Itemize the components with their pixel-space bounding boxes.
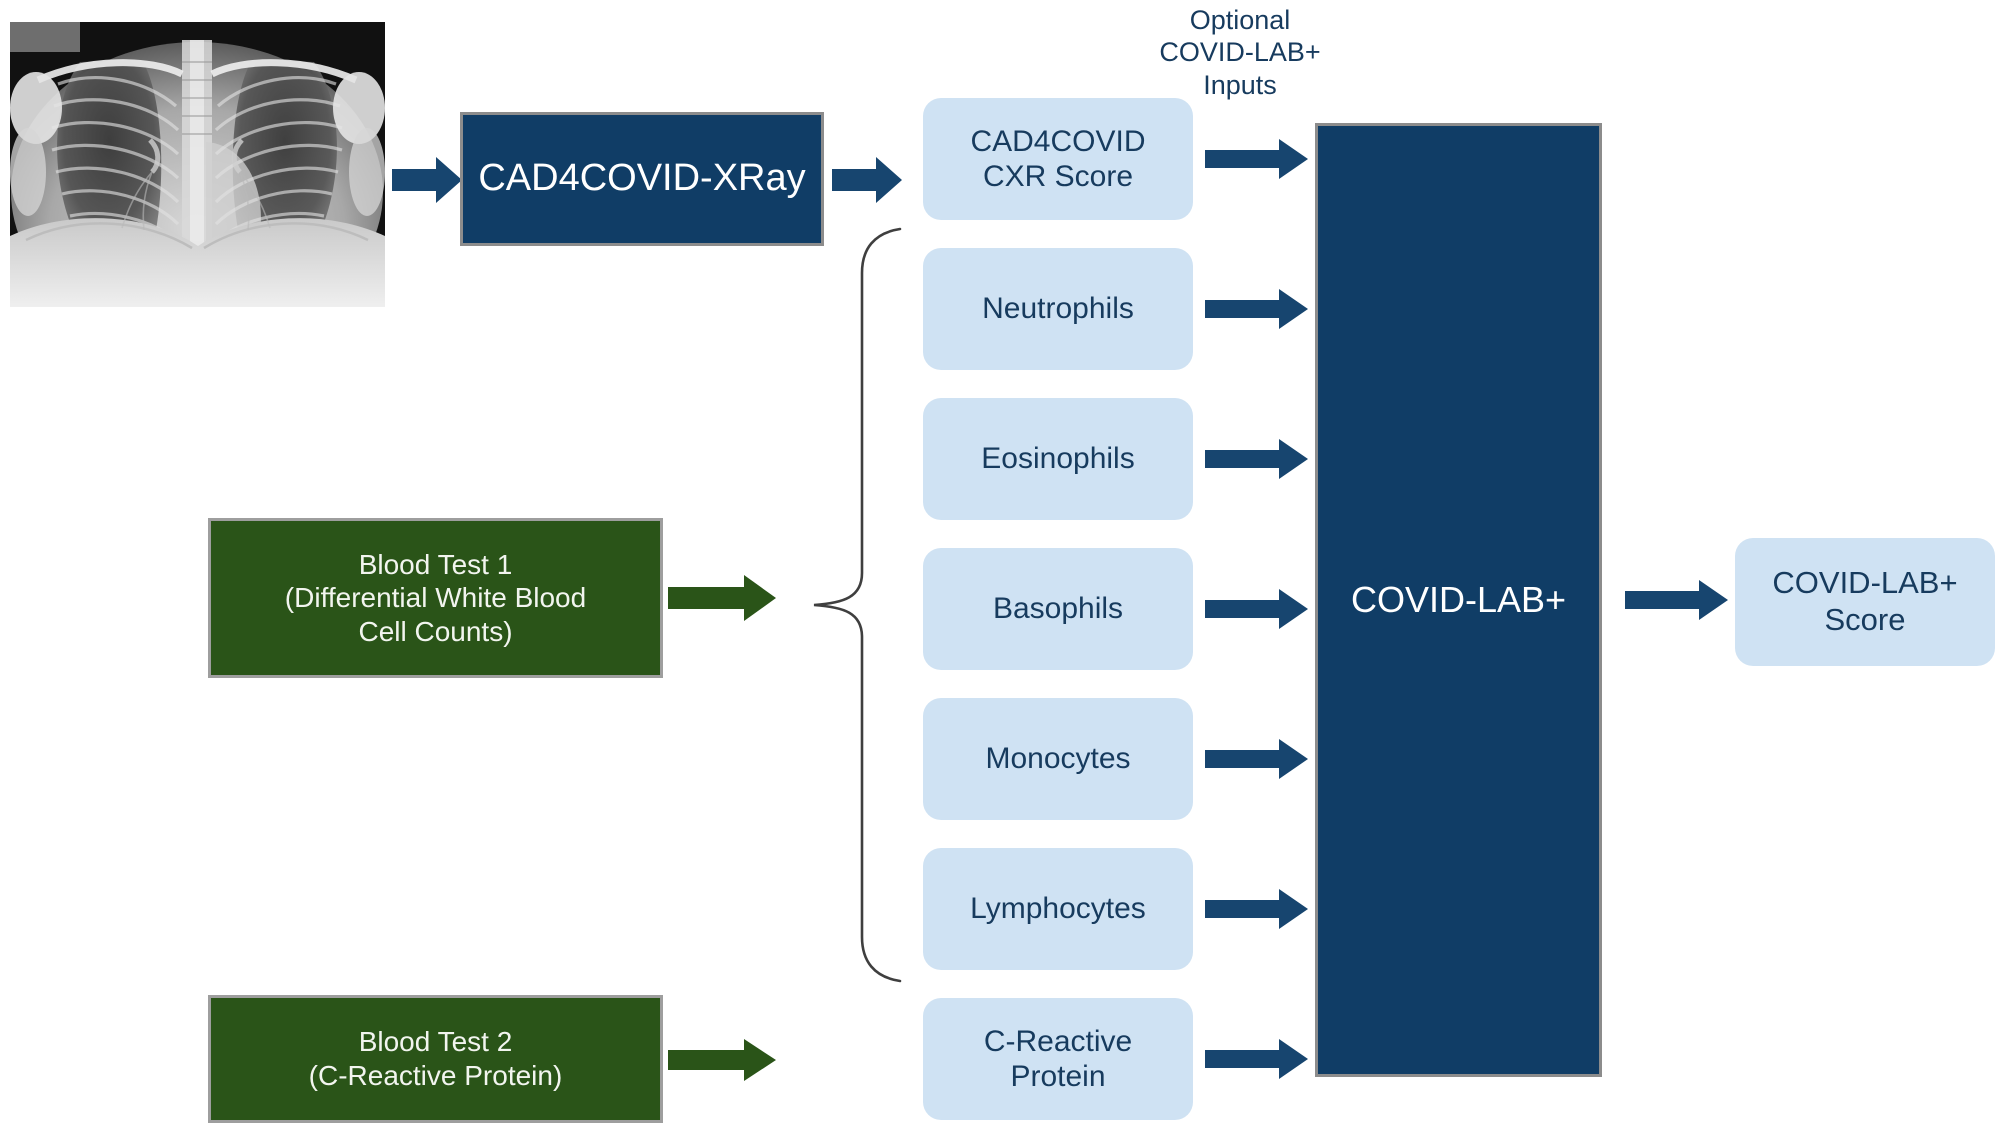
blood-test-1-line-2: (Differential White Blood bbox=[285, 581, 586, 615]
blood-test-2-line-1: Blood Test 2 bbox=[359, 1025, 513, 1059]
arrow-blood-test-1-to-features bbox=[668, 573, 778, 623]
feature-box-neutrophils[interactable]: Neutrophils bbox=[923, 248, 1193, 370]
arrow-crp-to-covidlab bbox=[1205, 1037, 1310, 1082]
arrow-basophils-to-covidlab bbox=[1205, 587, 1310, 632]
feature-box-cad4covid-cxr-score[interactable]: CAD4COVID CXR Score bbox=[923, 98, 1193, 220]
arrow-eosinophils-to-covidlab bbox=[1205, 437, 1310, 482]
feature-label-crp-line-1: C-Reactive bbox=[984, 1024, 1132, 1059]
grouping-brace bbox=[800, 225, 910, 985]
arrow-lymphocytes-to-covidlab bbox=[1205, 887, 1310, 932]
optional-inputs-label: Optional COVID-LAB+ Inputs bbox=[1145, 4, 1335, 101]
diagram-canvas: CAD4COVID-XRay Optional COVID-LAB+ Input… bbox=[0, 0, 2004, 1128]
feature-box-c-reactive-protein[interactable]: C-Reactive Protein bbox=[923, 998, 1193, 1120]
blood-test-2-box[interactable]: Blood Test 2 (C-Reactive Protein) bbox=[208, 995, 663, 1123]
covid-lab-plus-label: COVID-LAB+ bbox=[1351, 579, 1566, 620]
feature-label-eosinophils: Eosinophils bbox=[981, 441, 1134, 476]
score-label-line-2: Score bbox=[1825, 602, 1906, 639]
feature-box-lymphocytes[interactable]: Lymphocytes bbox=[923, 848, 1193, 970]
arrow-cxr-score-to-covidlab bbox=[1205, 137, 1310, 182]
optional-inputs-line-2: COVID-LAB+ bbox=[1145, 36, 1335, 68]
optional-inputs-line-1: Optional bbox=[1145, 4, 1335, 36]
optional-inputs-line-3: Inputs bbox=[1145, 69, 1335, 101]
arrow-monocytes-to-covidlab bbox=[1205, 737, 1310, 782]
chest-xray-image bbox=[10, 22, 385, 307]
covid-lab-plus-score-output-box[interactable]: COVID-LAB+ Score bbox=[1735, 538, 1995, 666]
cad4covid-xray-label: CAD4COVID-XRay bbox=[478, 157, 805, 201]
arrow-blood-test-2-to-crp bbox=[668, 1037, 778, 1083]
arrow-neutrophils-to-covidlab bbox=[1205, 287, 1310, 332]
blood-test-1-line-3: Cell Counts) bbox=[358, 615, 512, 649]
feature-label-crp-line-2: Protein bbox=[1010, 1059, 1105, 1094]
feature-label-basophils: Basophils bbox=[993, 591, 1123, 626]
feature-label-line-1: CAD4COVID bbox=[970, 124, 1145, 159]
arrow-cad4covid-to-cxr-score bbox=[832, 155, 904, 205]
feature-label-lymphocytes: Lymphocytes bbox=[970, 891, 1146, 926]
arrow-xray-to-cad4covid bbox=[392, 155, 464, 205]
blood-test-1-line-1: Blood Test 1 bbox=[359, 548, 513, 582]
blood-test-1-box[interactable]: Blood Test 1 (Differential White Blood C… bbox=[208, 518, 663, 678]
blood-test-2-line-2: (C-Reactive Protein) bbox=[309, 1059, 563, 1093]
score-label-line-1: COVID-LAB+ bbox=[1772, 565, 1957, 602]
feature-box-eosinophils[interactable]: Eosinophils bbox=[923, 398, 1193, 520]
cad4covid-xray-model-box[interactable]: CAD4COVID-XRay bbox=[460, 112, 824, 246]
feature-box-basophils[interactable]: Basophils bbox=[923, 548, 1193, 670]
feature-label-monocytes: Monocytes bbox=[985, 741, 1130, 776]
feature-label-neutrophils: Neutrophils bbox=[982, 291, 1134, 326]
feature-box-monocytes[interactable]: Monocytes bbox=[923, 698, 1193, 820]
covid-lab-plus-model-box[interactable]: COVID-LAB+ bbox=[1315, 123, 1602, 1077]
arrow-covidlab-to-score bbox=[1625, 578, 1730, 623]
feature-label-line-2: CXR Score bbox=[983, 159, 1133, 194]
